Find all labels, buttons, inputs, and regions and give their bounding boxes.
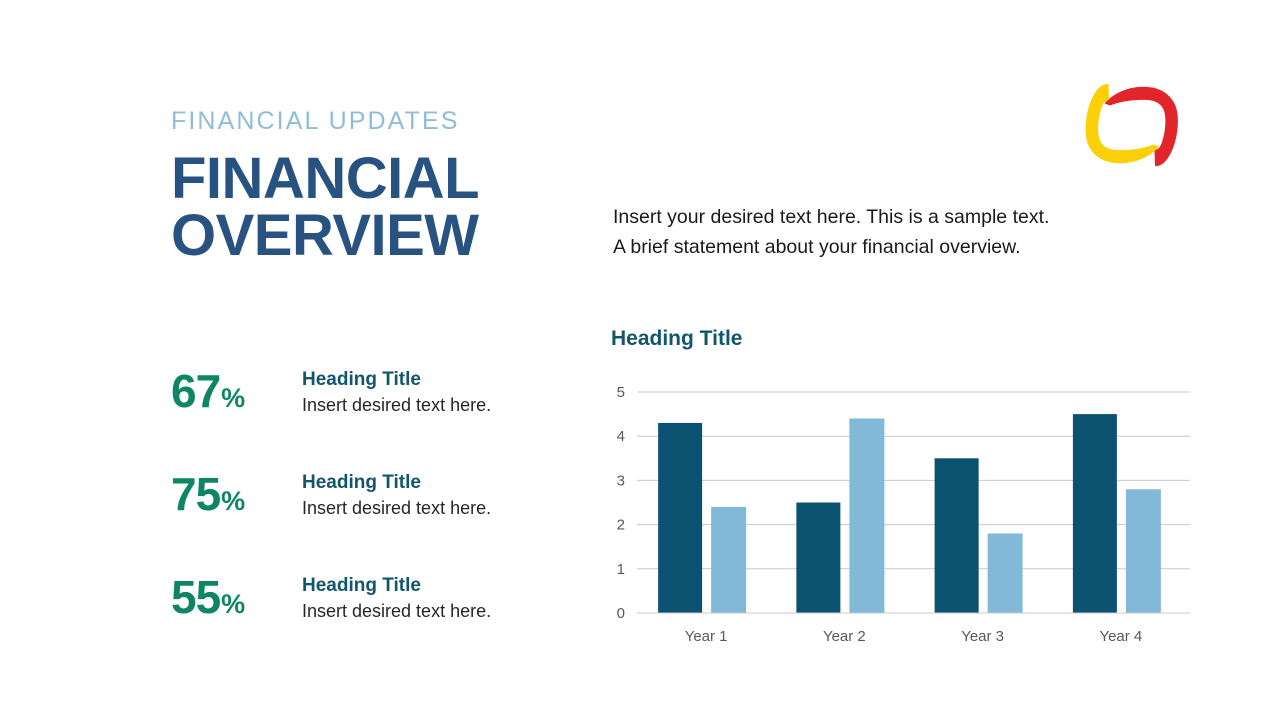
stat-value: 67 % — [171, 362, 302, 414]
body-line-2: A brief statement about your financial o… — [613, 233, 1173, 263]
y-tick-label: 4 — [617, 428, 625, 445]
chart-bar — [988, 533, 1023, 613]
chart-bar — [711, 507, 746, 613]
y-tick-label: 2 — [617, 517, 625, 534]
x-axis-label: Year 4 — [1099, 628, 1142, 645]
page-title-line-2: OVERVIEW — [171, 207, 571, 264]
stat-item: 67 % Heading Title Insert desired text h… — [171, 362, 571, 465]
x-axis-label: Year 2 — [823, 628, 866, 645]
y-tick-label: 0 — [617, 605, 625, 622]
stat-text: Heading Title Insert desired text here. — [302, 362, 491, 417]
chart-bar — [1073, 414, 1117, 613]
stat-percent-sign: % — [221, 385, 245, 412]
chart-title: Heading Title — [611, 327, 742, 351]
y-tick-label: 1 — [617, 561, 625, 578]
stats-list: 67 % Heading Title Insert desired text h… — [171, 362, 571, 671]
stat-value: 75 % — [171, 465, 302, 517]
stat-heading: Heading Title — [302, 368, 491, 392]
bar-chart: 012345Year 1Year 2Year 3Year 4 — [600, 375, 1200, 650]
heading-block: FINANCIAL UPDATES FINANCIAL OVERVIEW — [171, 106, 571, 265]
stat-value: 55 % — [171, 568, 302, 620]
body-paragraph: Insert your desired text here. This is a… — [613, 203, 1173, 262]
company-logo — [1084, 74, 1180, 176]
stat-percent-sign: % — [221, 488, 245, 515]
stat-subtext: Insert desired text here. — [302, 600, 491, 623]
stat-percent-sign: % — [221, 591, 245, 618]
logo-icon — [1084, 74, 1180, 176]
slide-canvas: FINANCIAL UPDATES FINANCIAL OVERVIEW 67 … — [0, 0, 1280, 720]
page-title-line-1: FINANCIAL — [171, 150, 571, 207]
stat-text: Heading Title Insert desired text here. — [302, 465, 491, 520]
y-tick-label: 3 — [617, 472, 625, 489]
eyebrow-label: FINANCIAL UPDATES — [171, 106, 571, 136]
stat-number: 75 — [171, 471, 220, 517]
stat-number: 55 — [171, 574, 220, 620]
chart-bar — [658, 423, 702, 613]
stat-item: 75 % Heading Title Insert desired text h… — [171, 465, 571, 568]
chart-bar — [849, 419, 884, 613]
stat-text: Heading Title Insert desired text here. — [302, 568, 491, 623]
x-axis-label: Year 1 — [685, 628, 728, 645]
chart-canvas: 012345Year 1Year 2Year 3Year 4 — [600, 375, 1200, 650]
stat-heading: Heading Title — [302, 574, 491, 598]
stat-number: 67 — [171, 368, 220, 414]
chart-bar — [935, 458, 979, 613]
y-tick-label: 5 — [617, 384, 625, 401]
stat-item: 55 % Heading Title Insert desired text h… — [171, 568, 571, 671]
chart-bar — [1126, 489, 1161, 613]
chart-bar — [796, 503, 840, 614]
stat-heading: Heading Title — [302, 471, 491, 495]
x-axis-label: Year 3 — [961, 628, 1004, 645]
body-line-1: Insert your desired text here. This is a… — [613, 203, 1173, 233]
stat-subtext: Insert desired text here. — [302, 497, 491, 520]
stat-subtext: Insert desired text here. — [302, 394, 491, 417]
page-title: FINANCIAL OVERVIEW — [171, 150, 571, 265]
